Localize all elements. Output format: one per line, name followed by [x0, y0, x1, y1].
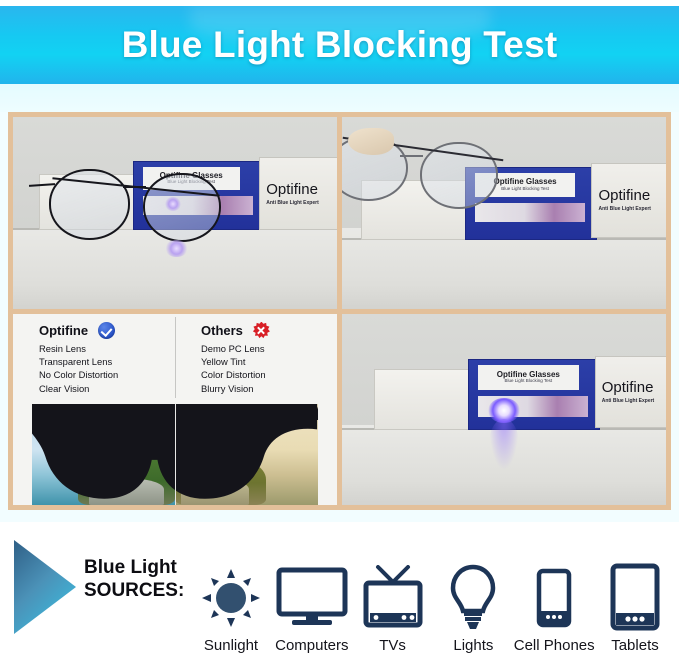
source-item-lights: Lights — [434, 561, 512, 654]
brand-tagline: Anti Blue Light Expert — [598, 206, 651, 212]
comparison-heading-right: Others — [201, 322, 337, 339]
blue-light-sources-band: Blue Light SOURCES: — [0, 522, 679, 664]
rocks-tinted — [181, 479, 249, 505]
source-label: Tablets — [611, 637, 659, 654]
uv-beam-reflection — [489, 419, 518, 469]
comparison-column-optifine: Optifine Resin Lens Transparent Lens No … — [13, 314, 175, 404]
comparison-column-others: Others Demo PC Lens Yellow Tint Color Di… — [175, 314, 337, 404]
panel-uv-direct: Optifine Glasses Blue Light Blocking Tes… — [342, 314, 666, 506]
feature-list-right: Demo PC Lens Yellow Tint Color Distortio… — [201, 342, 337, 395]
phone-icon — [535, 561, 573, 635]
comparison-card: Optifine Resin Lens Transparent Lens No … — [13, 314, 337, 506]
source-item-cell-phones: Cell Phones — [515, 561, 593, 654]
tv-icon — [362, 561, 424, 635]
arrow-icon — [14, 540, 76, 634]
brand-tagline: Anti Blue Light Expert — [602, 398, 655, 404]
source-label: Lights — [453, 637, 493, 654]
header: Blue Light Blocking Test — [0, 0, 679, 92]
desk-surface — [342, 228, 666, 308]
feature-list-left: Resin Lens Transparent Lens No Color Dis… — [39, 342, 175, 395]
uv-reactive-swatch — [475, 203, 585, 222]
brand-name: Optifine — [266, 182, 318, 197]
source-label: Computers — [275, 637, 348, 654]
source-label: Sunlight — [204, 637, 258, 654]
list-item: No Color Distortion — [39, 368, 175, 381]
infographic-root: Blue Light Blocking Test Optifine Glasse… — [0, 0, 679, 664]
card-subtitle: Blue Light Blocking Test — [504, 379, 552, 384]
comparison-divider — [175, 317, 176, 398]
tablet-icon — [609, 561, 661, 635]
brand-tagline: Anti Blue Light Expert — [266, 200, 319, 206]
list-item: Resin Lens — [39, 342, 175, 355]
source-item-tvs: TVs — [354, 561, 432, 654]
comparison-title-left: Optifine — [39, 323, 88, 338]
landscape-scene — [32, 404, 317, 505]
sources-caption-line1: Blue Light — [84, 556, 184, 579]
source-item-tablets: Tablets — [596, 561, 674, 654]
list-item: Yellow Tint — [201, 355, 337, 368]
header-underglow — [0, 84, 679, 112]
eyeglasses-bridge — [400, 155, 423, 157]
sun-icon — [200, 561, 262, 635]
source-item-computers: Computers — [273, 561, 351, 654]
product-box-side: Optifine Anti Blue Light Expert — [259, 157, 337, 230]
check-badge-icon — [98, 322, 115, 339]
sources-caption: Blue Light SOURCES: — [84, 556, 184, 602]
eyeglasses-lens-right — [420, 142, 499, 209]
eyeglasses-lens-right — [143, 173, 222, 242]
rocks-natural — [89, 479, 163, 505]
source-label: Cell Phones — [514, 637, 595, 654]
lens-view-photo — [13, 404, 337, 505]
uv-spot-reflection — [165, 240, 188, 257]
brand-name: Optifine — [602, 380, 654, 395]
header-banner: Blue Light Blocking Test — [0, 6, 679, 84]
page-title: Blue Light Blocking Test — [122, 24, 558, 66]
brand-name: Optifine — [598, 188, 650, 203]
x-badge-icon — [253, 322, 270, 339]
lightbulb-icon — [448, 561, 498, 635]
monitor-icon — [276, 561, 348, 635]
comparison-title-right: Others — [201, 323, 243, 338]
product-box-side: Optifine Anti Blue Light Expert — [595, 356, 666, 429]
comparison-split-line — [175, 404, 177, 505]
source-item-sunlight: Sunlight — [192, 561, 270, 654]
comparison-heading-left: Optifine — [39, 322, 175, 339]
panel-uv-blocked: Optifine Glasses Blue Light Blocking Tes… — [13, 117, 337, 309]
sources-caption-line2: SOURCES: — [84, 579, 184, 602]
comparison-columns: Optifine Resin Lens Transparent Lens No … — [13, 314, 337, 404]
source-label: TVs — [379, 637, 406, 654]
list-item: Blurry Vision — [201, 382, 337, 395]
panel-lens-comparison: Optifine Resin Lens Transparent Lens No … — [13, 314, 337, 506]
list-item: Clear Vision — [39, 382, 175, 395]
product-box-side: Optifine Anti Blue Light Expert — [591, 163, 666, 238]
photo-grid: Optifine Glasses Blue Light Blocking Tes… — [8, 112, 671, 510]
sources-icon-row: Sunlight Computers — [192, 534, 674, 654]
card-subtitle: Blue Light Blocking Test — [501, 187, 549, 192]
list-item: Color Distortion — [201, 368, 337, 381]
hand-holding-glasses — [348, 128, 393, 155]
panel-uv-off: Optifine Glasses Blue Light Blocking Tes… — [342, 117, 666, 309]
test-card-label: Optifine Glasses Blue Light Blocking Tes… — [478, 365, 578, 390]
list-item: Transparent Lens — [39, 355, 175, 368]
list-item: Demo PC Lens — [201, 342, 337, 355]
